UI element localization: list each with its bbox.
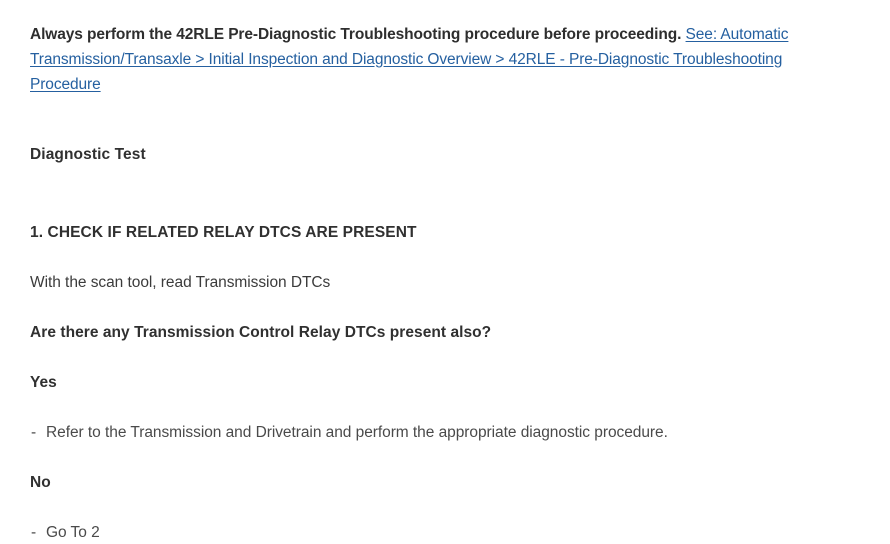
branch-action-no-text: Go To 2 xyxy=(46,524,100,541)
bullet-hyphen-icon: - xyxy=(31,522,46,544)
branch-action-yes: -Refer to the Transmission and Drivetrai… xyxy=(31,422,668,444)
pre-diagnostic-warning-paragraph: Always perform the 42RLE Pre-Diagnostic … xyxy=(30,22,790,97)
step-instruction-text: With the scan tool, read Transmission DT… xyxy=(30,272,330,294)
section-heading-diagnostic-test: Diagnostic Test xyxy=(30,144,146,166)
step-question-text: Are there any Transmission Control Relay… xyxy=(30,322,491,344)
branch-label-no: No xyxy=(30,472,51,494)
warning-lead-text: Always perform the 42RLE Pre-Diagnostic … xyxy=(30,26,686,43)
step-heading-1: 1. CHECK IF RELATED RELAY DTCS ARE PRESE… xyxy=(30,222,417,244)
branch-action-no: -Go To 2 xyxy=(31,522,100,544)
diagnostic-procedure-page: Always perform the 42RLE Pre-Diagnostic … xyxy=(0,0,890,535)
branch-label-yes: Yes xyxy=(30,372,57,394)
bullet-hyphen-icon: - xyxy=(31,422,46,444)
branch-action-yes-text: Refer to the Transmission and Drivetrain… xyxy=(46,424,668,441)
